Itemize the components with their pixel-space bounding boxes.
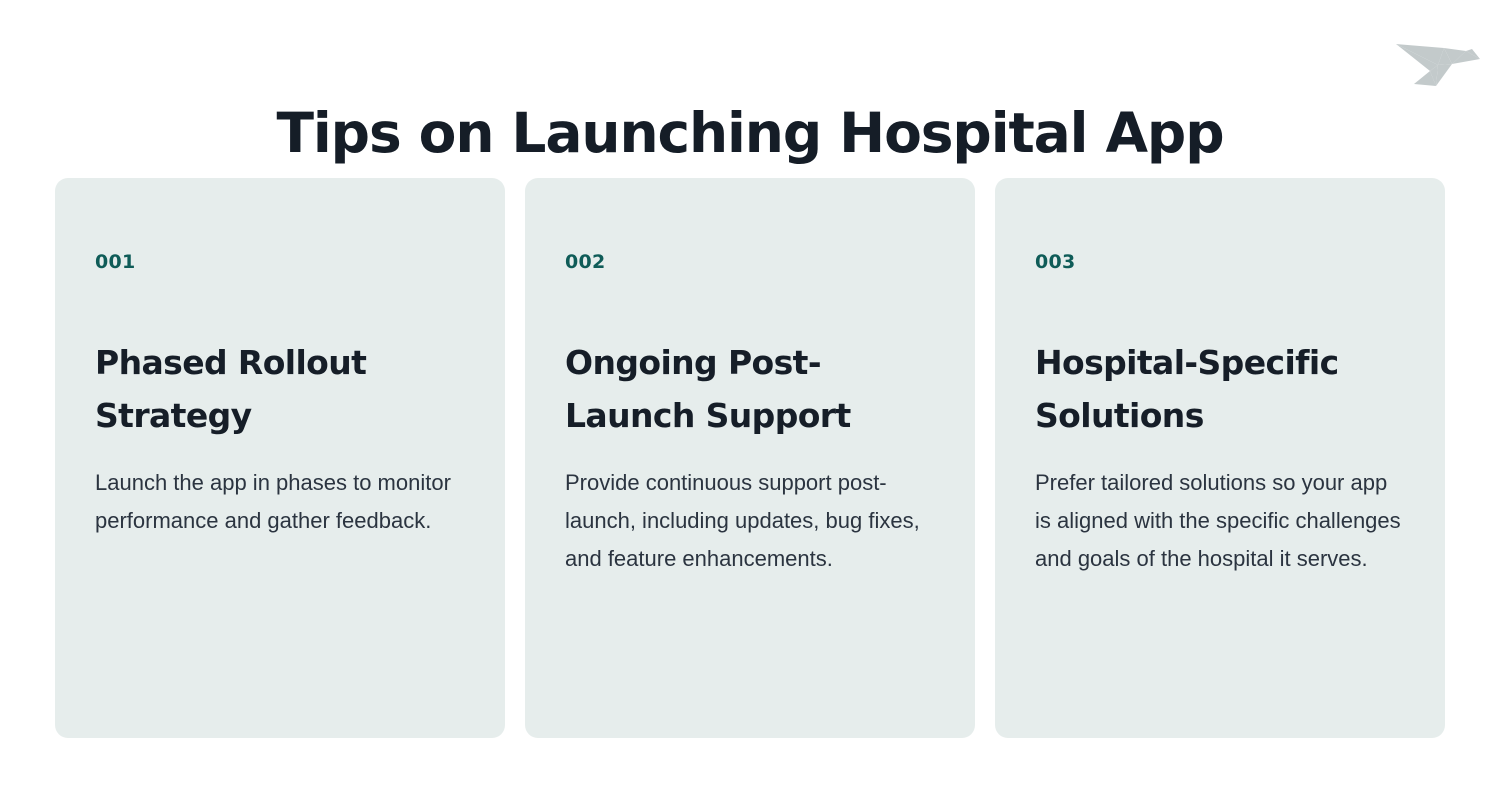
tip-card-heading: Phased Rollout Strategy xyxy=(95,336,465,442)
tip-card-body: Launch the app in phases to monitor perf… xyxy=(95,464,465,540)
origami-bird-logo xyxy=(1392,18,1484,90)
tip-card-number: 003 xyxy=(1035,250,1405,274)
tip-card-body: Provide continuous support post-launch, … xyxy=(565,464,935,578)
tip-card-001[interactable]: 001 Phased Rollout Strategy Launch the a… xyxy=(55,178,505,738)
tip-card-003[interactable]: 003 Hospital-Specific Solutions Prefer t… xyxy=(995,178,1445,738)
tip-card-body: Prefer tailored solutions so your app is… xyxy=(1035,464,1405,578)
tip-card-heading: Ongoing Post-Launch Support xyxy=(565,336,935,442)
tip-card-heading: Hospital-Specific Solutions xyxy=(1035,336,1405,442)
tip-card-002[interactable]: 002 Ongoing Post-Launch Support Provide … xyxy=(525,178,975,738)
tip-card-number: 002 xyxy=(565,250,935,274)
tips-card-row: 001 Phased Rollout Strategy Launch the a… xyxy=(55,178,1445,738)
tip-card-number: 001 xyxy=(95,250,465,274)
page-title: Tips on Launching Hospital App xyxy=(0,99,1500,167)
